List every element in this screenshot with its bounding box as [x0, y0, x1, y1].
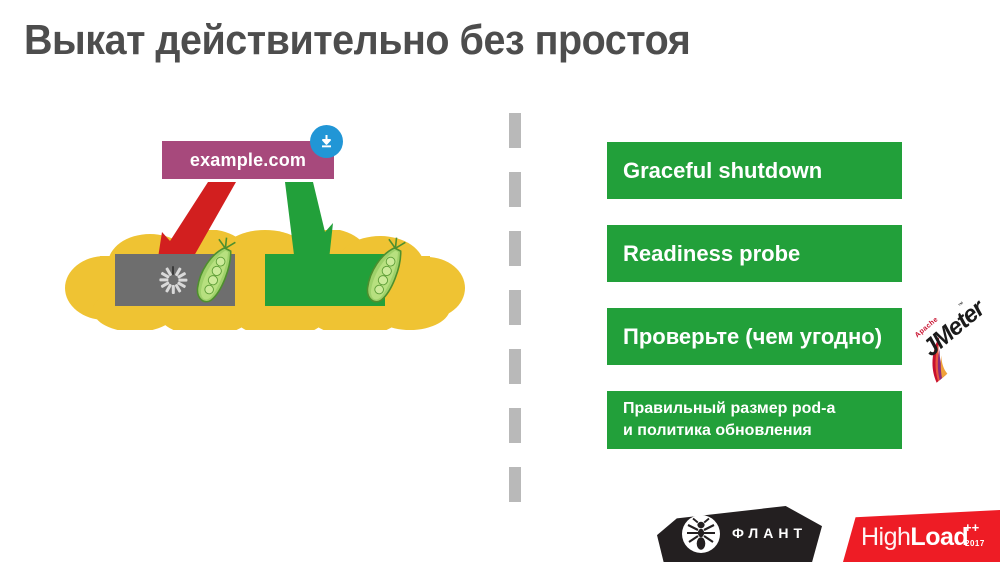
checklist-item-label: Graceful shutdown [623, 158, 902, 184]
checklist-item-graceful-shutdown[interactable]: Graceful shutdown [607, 142, 902, 199]
vertical-dashed-divider [509, 113, 521, 501]
checklist-item-label: Проверьте (чем угодно) [623, 324, 902, 350]
divider-dash [509, 113, 521, 148]
domain-label: example.com [190, 150, 306, 171]
checklist-item-readiness-probe[interactable]: Readiness probe [607, 225, 902, 282]
checklist-item-label: Readiness probe [623, 241, 902, 267]
divider-dash [509, 172, 521, 207]
jmeter-logo: Apache JMeter ™ [908, 296, 988, 372]
highload-wordmark: HighLoad [861, 523, 968, 552]
ant-icon [681, 514, 721, 554]
domain-box: example.com [162, 141, 334, 179]
highload-text-bold: Load [910, 523, 968, 551]
download-circle-icon [310, 125, 343, 158]
divider-dash [509, 349, 521, 384]
page-title: Выкат действительно без простоя [24, 16, 870, 64]
checklist-item-check-anything[interactable]: Проверьте (чем угодно) [607, 308, 902, 365]
divider-dash [509, 408, 521, 443]
highload-year: 2017 [965, 539, 985, 548]
flant-wordmark: ФЛАНТ [732, 525, 807, 541]
highload-plus: ++ [964, 520, 979, 535]
divider-dash [509, 290, 521, 325]
highload-text-light: High [861, 523, 910, 551]
rollout-diagram: example.com [40, 105, 470, 345]
checklist-item-pod-size-policy[interactable]: Правильный размер pod-а и политика обнов… [607, 391, 902, 449]
flant-logo: ФЛАНТ [657, 506, 822, 562]
slide-root: Выкат действительно без простоя [0, 0, 1000, 562]
loading-spinner-icon [159, 266, 187, 294]
checklist-item-label-line1: Правильный размер pod-а [623, 398, 902, 420]
divider-dash [509, 467, 521, 502]
divider-dash [509, 231, 521, 266]
highload-logo: HighLoad ++ 2017 [843, 510, 1000, 562]
checklist-item-label-line2: и политика обновления [623, 420, 902, 442]
